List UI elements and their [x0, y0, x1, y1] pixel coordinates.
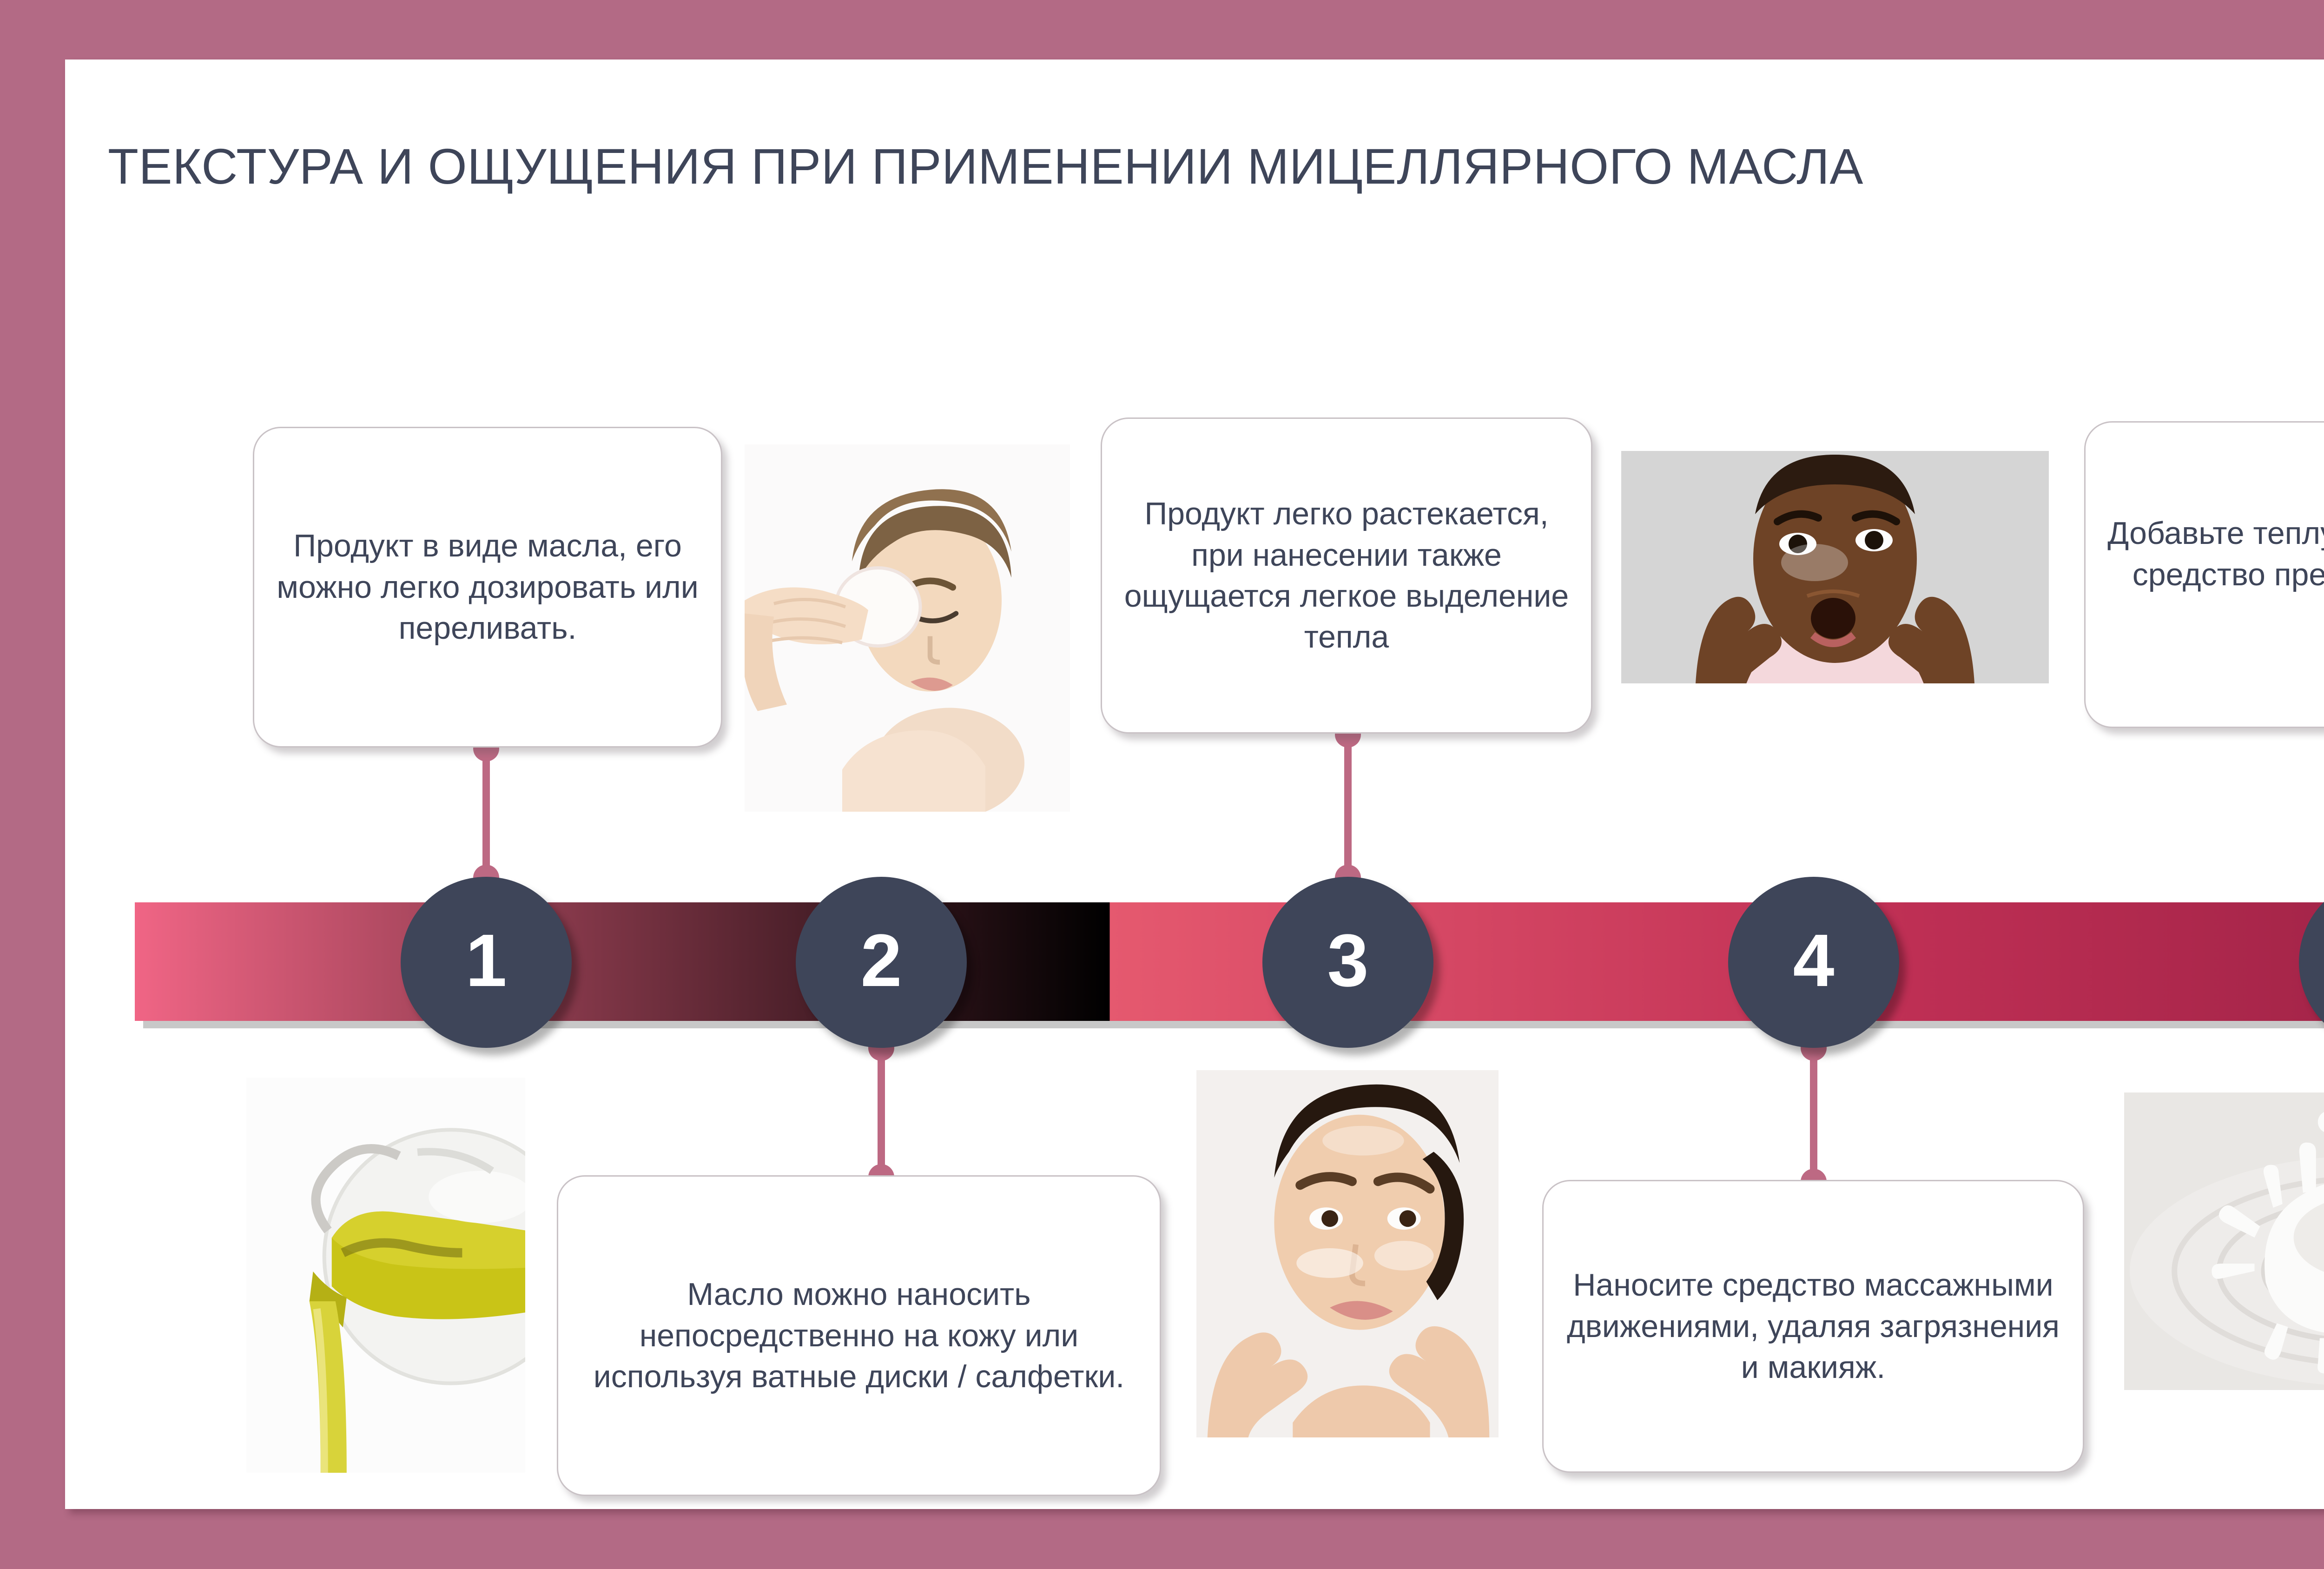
callout-step-3[interactable]: Продукт легко растекается, при нанесении…: [1101, 417, 1592, 734]
callout-step-1[interactable]: Продукт в виде масла, его можно легко до…: [253, 427, 722, 748]
connector-step-4: [1810, 1048, 1817, 1182]
callout-step-2[interactable]: Масло можно наносить непосредственно на …: [557, 1175, 1161, 1496]
node-number-1: 1: [466, 923, 507, 998]
node-number-2: 2: [861, 923, 902, 998]
callout-text-4: Наносите средство массажными движениями,…: [1564, 1264, 2062, 1388]
page-title: ТЕКСТУРА И ОЩУЩЕНИЯ ПРИ ПРИМЕНЕНИИ МИЦЕЛ…: [108, 138, 2324, 195]
callout-step-4[interactable]: Наносите средство массажными движениями,…: [1542, 1180, 2084, 1473]
photo-milk-splash-crown: [2124, 1092, 2324, 1390]
callout-text-5: Добавьте теплую воду, помассируйте, сред…: [2106, 513, 2324, 636]
photo-woman-removing-eye-makeup-with-cotton-pad: [745, 444, 1070, 812]
photo-oil-pouring-from-glass-decanter: [246, 1078, 525, 1473]
node-number-4: 4: [1793, 923, 1835, 998]
node-number-3: 3: [1327, 923, 1369, 998]
photo-woman-massaging-product-into-skin: [1196, 1070, 1499, 1437]
connector-step-2: [878, 1048, 885, 1177]
callout-text-2: Масло можно наносить непосредственно на …: [579, 1274, 1139, 1397]
callout-text-1: Продукт в виде масла, его можно легко до…: [275, 525, 700, 649]
connector-step-3: [1344, 735, 1352, 878]
timeline-node-3[interactable]: 3: [1262, 877, 1433, 1048]
timeline-node-1[interactable]: 1: [401, 877, 572, 1048]
callout-step-5[interactable]: Добавьте теплую воду, помассируйте, сред…: [2084, 421, 2324, 728]
connector-step-1: [482, 748, 490, 878]
timeline-node-4[interactable]: 4: [1728, 877, 1899, 1048]
timeline-node-2[interactable]: 2: [796, 877, 967, 1048]
photo-man-applying-cleanser-to-face: [1621, 451, 2049, 683]
callout-text-3: Продукт легко растекается, при нанесении…: [1122, 493, 1571, 658]
slide-canvas: ТЕКСТУРА И ОЩУЩЕНИЯ ПРИ ПРИМЕНЕНИИ МИЦЕЛ…: [65, 60, 2324, 1509]
